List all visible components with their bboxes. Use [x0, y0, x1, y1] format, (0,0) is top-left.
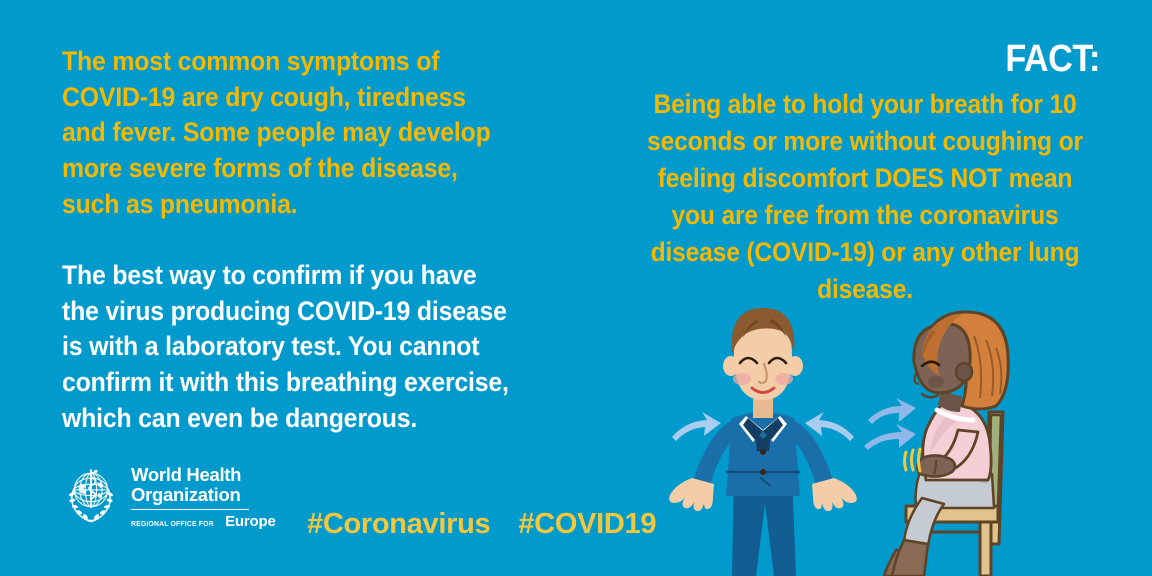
man-breath-arrow-left — [672, 412, 721, 441]
fact-body-text: Being able to hold your breath for 10 se… — [646, 86, 1083, 309]
testing-paragraph: The best way to confirm if you have the … — [62, 258, 513, 436]
hashtag-coronavirus[interactable]: #Coronavirus — [307, 508, 490, 541]
fact-label: FACT: — [677, 40, 1100, 80]
fact-block: FACT: Being able to hold your breath for… — [630, 40, 1100, 308]
man-breath-arrow-right — [805, 412, 854, 441]
who-region-line: REGIONAL OFFICE FOR Europe — [131, 513, 276, 530]
woman-breath-arrow-upper — [868, 398, 916, 424]
seated-woman-figure — [864, 312, 1008, 576]
who-organization-name: World Health Organization — [131, 465, 276, 505]
symptoms-paragraph: The most common symptoms of COVID-19 are… — [62, 44, 513, 222]
breathing-exercise-illustration — [660, 300, 1060, 576]
who-covid-infographic: The most common symptoms of COVID-19 are… — [0, 0, 1152, 576]
man-left-hand — [669, 478, 714, 511]
woman-breath-arrow-lower — [864, 424, 916, 450]
who-wordmark: World Health Organization REGIONAL OFFIC… — [131, 462, 276, 530]
left-text-column: The most common symptoms of COVID-19 are… — [62, 44, 552, 436]
who-region-prefix: REGIONAL OFFICE FOR — [131, 519, 214, 528]
standing-man-figure — [669, 308, 857, 576]
who-logo: World Health Organization REGIONAL OFFIC… — [60, 462, 276, 530]
hashtag-row: #Coronavirus #COVID19 — [307, 508, 656, 541]
hashtag-covid19[interactable]: #COVID19 — [518, 508, 656, 541]
who-region-name: Europe — [225, 513, 275, 530]
man-right-hand — [812, 478, 857, 511]
woman-hands-on-belly — [917, 455, 955, 476]
who-emblem-icon — [60, 462, 122, 524]
who-divider-rule — [131, 509, 249, 511]
